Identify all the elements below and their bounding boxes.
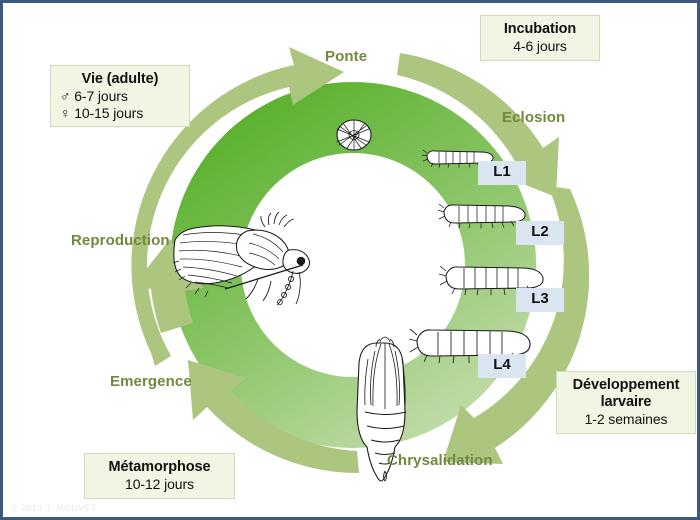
infobox-incubation: Incubation 4-6 jours (480, 15, 600, 61)
infobox-developpement-duration: 1-2 semaines (566, 411, 686, 428)
infobox-incubation-title: Incubation (490, 21, 590, 38)
infobox-developpement-larvaire: Développement larvaire 1-2 semaines (556, 371, 696, 434)
infobox-developpement-title: Développement (566, 377, 686, 394)
infobox-developpement-title2: larvaire (566, 394, 686, 411)
infobox-metamorphose-title: Métamorphose (94, 459, 225, 476)
instar-label-l3: L3 (516, 288, 564, 312)
infobox-vie-title: Vie (adulte) (60, 71, 180, 88)
infobox-metamorphose-duration: 10-12 jours (94, 476, 225, 493)
infobox-vie-female: ♀ 10-15 jours (60, 105, 180, 122)
stage-caption-chrysalidation: Chrysalidation (387, 452, 493, 469)
egg-illustration (337, 120, 371, 150)
instar-label-l4: L4 (478, 354, 526, 378)
infobox-vie-male: ♂ 6-7 jours (60, 88, 180, 105)
life-cycle-diagram: Vie (adulte) ♂ 6-7 jours ♀ 10-15 jours I… (0, 0, 700, 520)
watermark: © 2013 J. MOUVET (11, 503, 97, 513)
instar-label-l1: L1 (478, 161, 526, 185)
stage-caption-ponte: Ponte (325, 48, 367, 65)
infobox-metamorphose: Métamorphose 10-12 jours (84, 453, 235, 499)
stage-caption-eclosion: Eclosion (502, 109, 565, 126)
infobox-incubation-duration: 4-6 jours (490, 38, 590, 55)
instar-label-l2: L2 (516, 221, 564, 245)
stage-caption-emergence: Emergence (110, 373, 192, 390)
infobox-vie-adulte: Vie (adulte) ♂ 6-7 jours ♀ 10-15 jours (50, 65, 190, 127)
stage-caption-reproduction: Reproduction (71, 232, 170, 249)
